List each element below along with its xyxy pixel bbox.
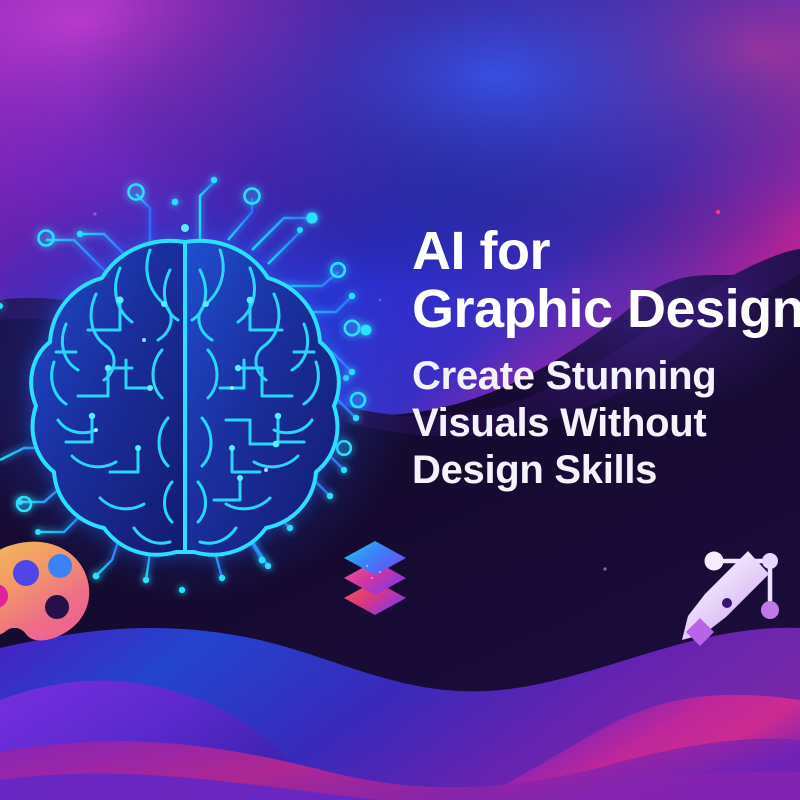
pen-tool-icon xyxy=(682,551,779,646)
subhead-line-2: Visuals Without xyxy=(412,400,800,447)
palette-icon xyxy=(0,542,89,641)
layers-icon xyxy=(344,541,406,615)
subhead-line-1: Create Stunning xyxy=(412,353,800,400)
subhead-line-3: Design Skills xyxy=(412,447,800,494)
banner-canvas: AI for Graphic Design Create Stunning Vi… xyxy=(0,0,800,800)
text-block: AI for Graphic Design Create Stunning Vi… xyxy=(412,222,800,494)
headline-line-2: Graphic Design xyxy=(412,280,800,338)
page-subtitle: Create Stunning Visuals Without Design S… xyxy=(412,353,800,495)
headline-line-1: AI for xyxy=(412,222,800,280)
page-title: AI for Graphic Design xyxy=(412,222,800,339)
